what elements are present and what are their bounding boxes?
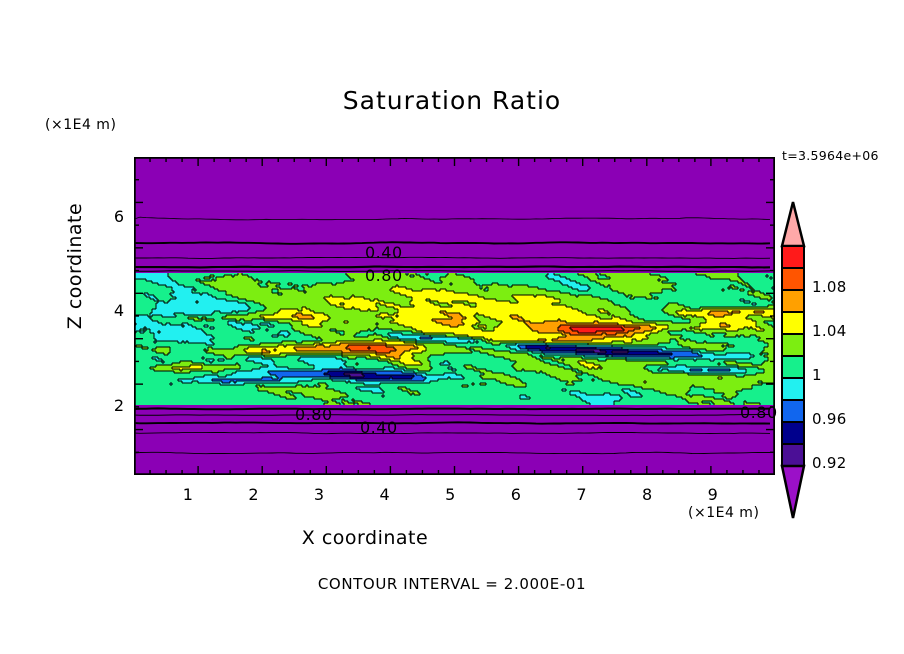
colorbar-band — [782, 334, 804, 356]
colorbar-band — [782, 400, 804, 422]
colorbar-band — [782, 246, 804, 268]
colorbar-band — [782, 422, 804, 444]
colorbar-band — [782, 268, 804, 290]
y-tick-label: 2 — [100, 396, 124, 415]
x-tick-label: 7 — [567, 485, 595, 504]
x-tick-label: 2 — [239, 485, 267, 504]
x-tick-label: 5 — [436, 485, 464, 504]
contour-plot-canvas — [134, 157, 775, 475]
colorbar-swatches — [778, 200, 812, 520]
y-tick-label: 4 — [100, 301, 124, 320]
time-annotation: t=3.5964e+06 — [782, 148, 879, 163]
contour-label: 0.40 — [365, 243, 403, 262]
contour-label: 0.80 — [365, 266, 403, 285]
x-tick-label: 1 — [174, 485, 202, 504]
contour-interval-caption: CONTOUR INTERVAL = 2.000E-01 — [0, 575, 904, 593]
x-tick-label: 3 — [305, 485, 333, 504]
contour-label: 0.80 — [295, 405, 333, 424]
x-axis-unit-label: (×1E4 m) — [688, 505, 759, 521]
x-tick-label: 8 — [633, 485, 661, 504]
y-axis-title: Z coordinate — [64, 186, 86, 346]
x-axis-title: X coordinate — [0, 527, 730, 549]
colorbar-band — [782, 356, 804, 378]
contour-plot[interactable] — [134, 157, 775, 475]
x-tick-label: 6 — [502, 485, 530, 504]
x-tick-label: 4 — [371, 485, 399, 504]
colorbar-band — [782, 312, 804, 334]
page-title: Saturation Ratio — [0, 86, 904, 115]
colorbar-tick-label: 1.08 — [812, 278, 847, 296]
colorbar-tick-label: 0.92 — [812, 454, 847, 472]
x-tick-label: 9 — [699, 485, 727, 504]
colorbar-tick-label: 0.96 — [812, 410, 847, 428]
contour-label: 0.80 — [740, 403, 778, 422]
colorbar-tick-label: 1 — [812, 366, 822, 384]
colorbar-band — [782, 290, 804, 312]
colorbar[interactable] — [778, 200, 812, 520]
colorbar-tick-label: 1.04 — [812, 322, 847, 340]
y-axis-unit-label: (×1E4 m) — [45, 117, 116, 133]
colorbar-band — [782, 378, 804, 400]
colorbar-band — [782, 444, 804, 466]
y-tick-label: 6 — [100, 207, 124, 226]
contour-label: 0.40 — [360, 418, 398, 437]
